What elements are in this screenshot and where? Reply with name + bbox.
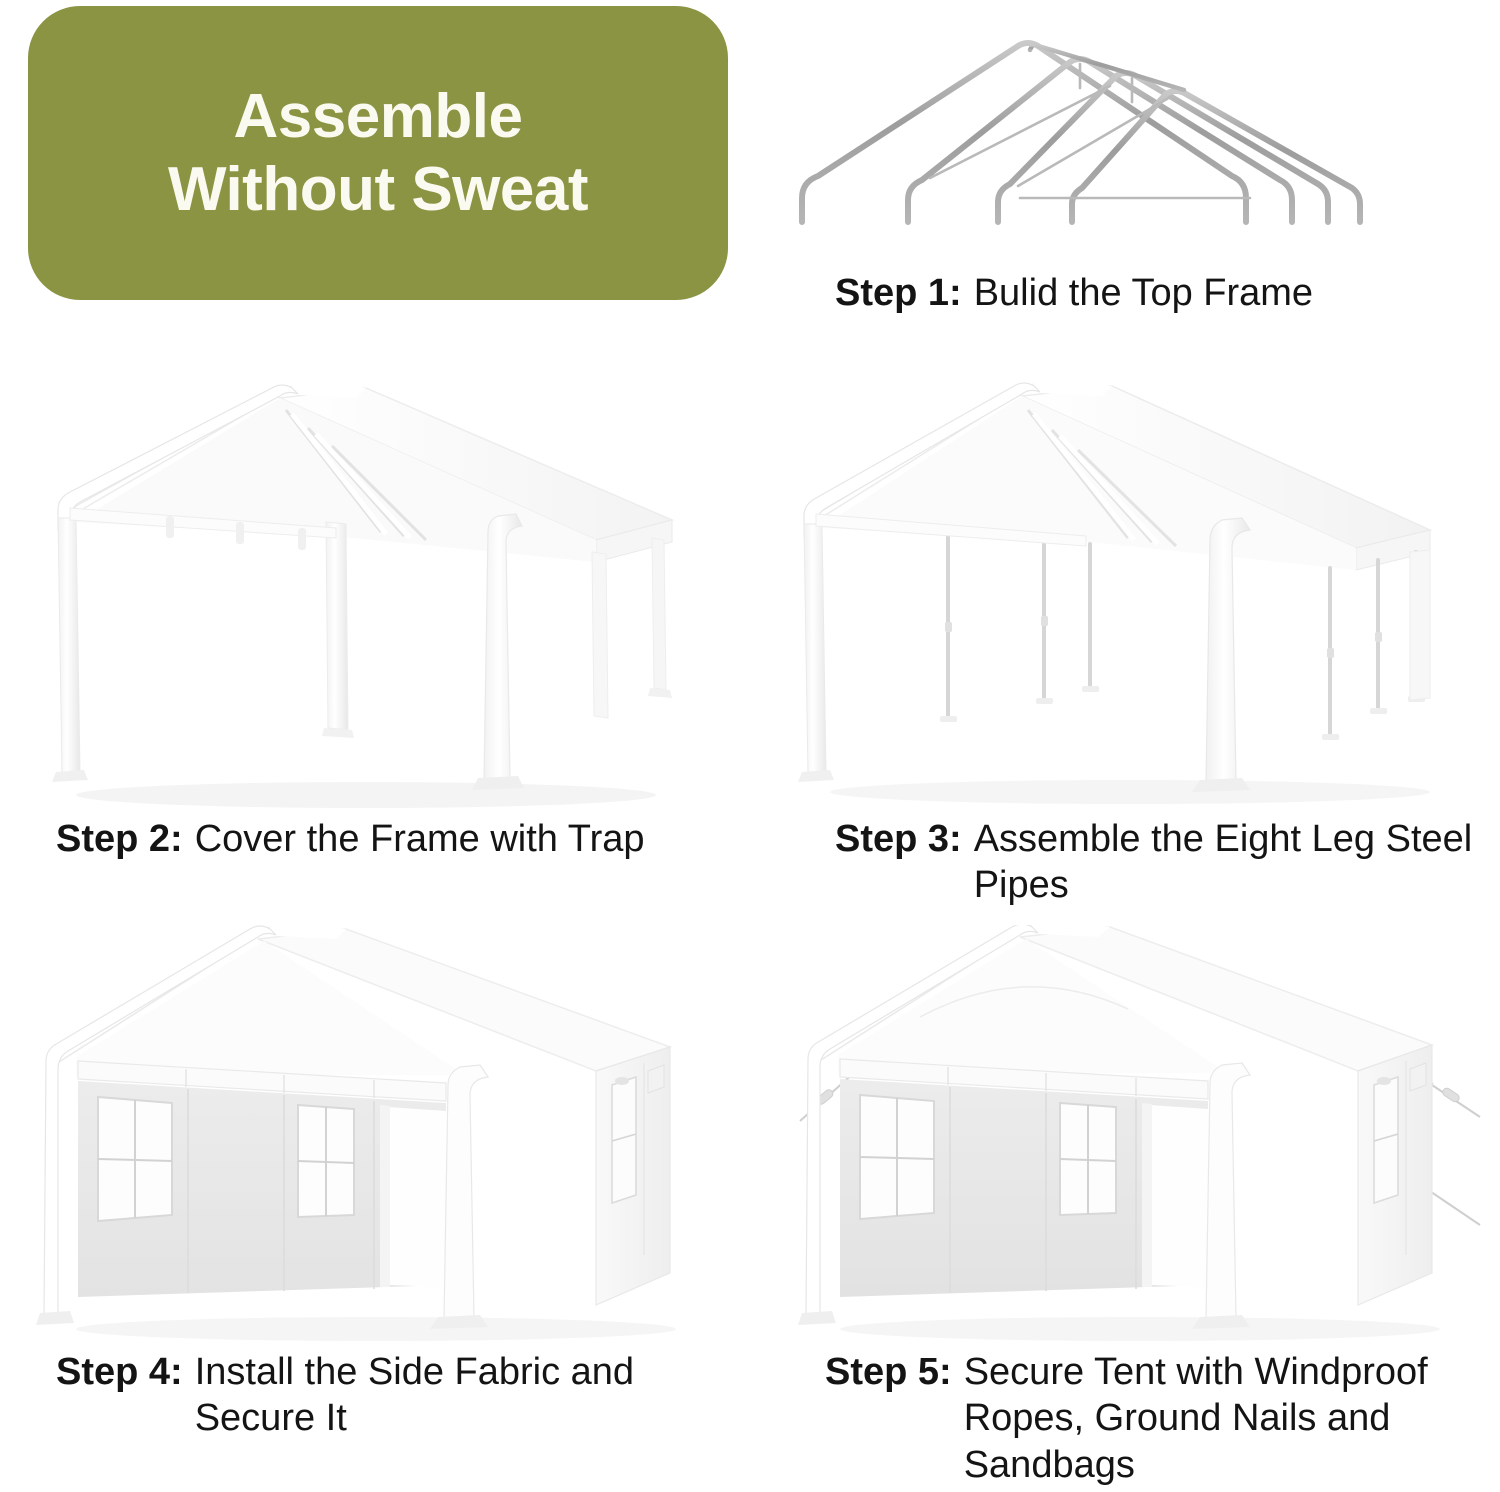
roof-frame-icon [780,10,1440,260]
title-badge: Assemble Without Sweat [28,6,728,300]
step-4-caption: Step 4: Install the Side Fabric and Secu… [36,1349,736,1442]
enclosed-tent-guy-ropes-icon [780,925,1490,1345]
step-1-caption: Step 1: Bulid the Top Frame [780,270,1460,316]
title-line-1: Assemble [234,80,523,153]
step-2-caption: Step 2: Cover the Frame with Trap [36,816,736,862]
step-4-illustration [36,925,736,1345]
step-1-description: Bulid the Top Frame [974,270,1313,316]
step-1-label: Step 1: [835,270,962,316]
step-5-description: Secure Tent with Windproof Ropes, Ground… [964,1349,1490,1488]
enclosed-tent-windows-icon [36,925,726,1345]
canopy-eight-legs-icon [790,380,1480,810]
step-2-illustration [36,380,736,810]
step-5-illustration [780,925,1490,1345]
step-3-description: Assemble the Eight Leg Steel Pipes [974,816,1490,909]
step-3-illustration [790,380,1490,810]
step-2-block: Step 2: Cover the Frame with Trap [36,380,736,862]
step-1-block: Step 1: Bulid the Top Frame [780,10,1460,316]
canopy-four-legs-icon [36,380,726,810]
step-2-description: Cover the Frame with Trap [195,816,645,862]
infographic-canvas: Assemble Without Sweat [0,0,1500,1492]
step-1-illustration [780,10,1460,260]
step-4-block: Step 4: Install the Side Fabric and Secu… [36,925,736,1442]
step-5-block: Step 5: Secure Tent with Windproof Ropes… [780,925,1490,1488]
step-3-label: Step 3: [835,816,962,862]
step-5-label: Step 5: [825,1349,952,1395]
step-3-block: Step 3: Assemble the Eight Leg Steel Pip… [790,380,1490,909]
step-4-label: Step 4: [56,1349,183,1395]
step-2-label: Step 2: [56,816,183,862]
step-5-caption: Step 5: Secure Tent with Windproof Ropes… [780,1349,1490,1488]
step-4-description: Install the Side Fabric and Secure It [195,1349,736,1442]
step-3-caption: Step 3: Assemble the Eight Leg Steel Pip… [790,816,1490,909]
title-line-2: Without Sweat [168,153,588,226]
